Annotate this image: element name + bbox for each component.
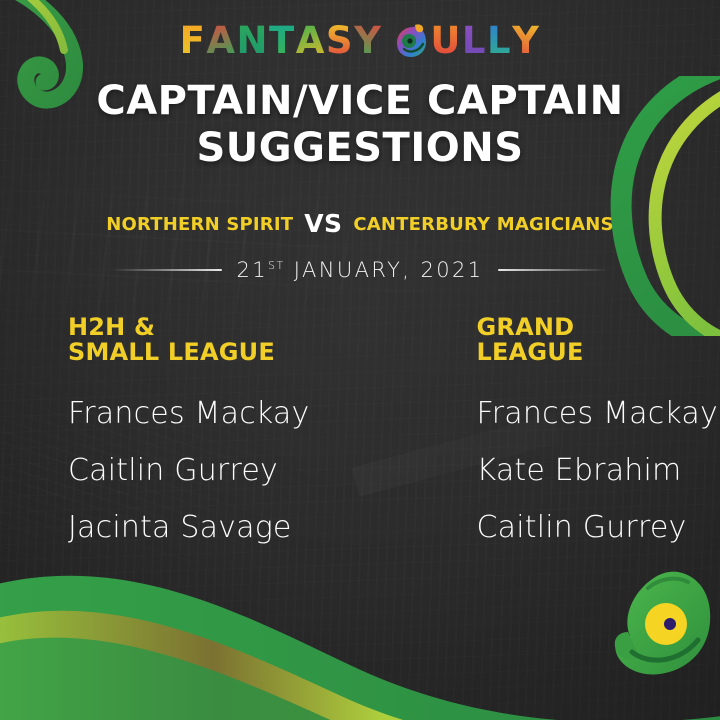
- date-divider-right: [498, 269, 608, 271]
- list-item[interactable]: Frances Mackay: [68, 385, 312, 442]
- team-away-name: CANTERBURY MAGICIANS: [353, 214, 613, 235]
- logo-letter-l1: L: [462, 22, 487, 59]
- team-home-name: NORTHERN SPIRIT: [106, 214, 293, 235]
- column-heading-h2h: H2H & SMALL LEAGUE: [68, 315, 312, 365]
- column-heading-grand-line1: GRAND: [477, 315, 720, 340]
- page-title-line2: SUGGESTIONS: [0, 125, 720, 172]
- date-divider-left: [112, 269, 222, 271]
- match-date: 21ST JANUARY, 2021: [236, 258, 483, 282]
- match-date-row: 21ST JANUARY, 2021: [0, 258, 720, 282]
- column-heading-h2h-line1: H2H &: [68, 315, 312, 340]
- logo-letter-n: N: [237, 22, 269, 59]
- logo-letter-s: S: [326, 22, 354, 59]
- player-list-h2h: Frances Mackay Caitlin Gurrey Jacinta Sa…: [68, 385, 312, 556]
- list-item[interactable]: Jacinta Savage: [68, 499, 312, 556]
- page-title-line1: CAPTAIN/VICE CAPTAIN: [96, 78, 623, 124]
- chameleon-g-icon: [395, 23, 429, 65]
- logo-letter-u: U: [430, 22, 462, 59]
- list-item[interactable]: Caitlin Gurrey: [477, 499, 720, 556]
- versus-label: VS: [304, 209, 342, 238]
- brand-logo[interactable]: FANTASY ULLY: [0, 22, 720, 65]
- player-list-grand: Frances Mackay Kate Ebrahim Caitlin Gurr…: [477, 385, 720, 556]
- logo-letter-t: T: [269, 22, 296, 59]
- column-heading-h2h-line2: SMALL LEAGUE: [68, 340, 312, 365]
- logo-letter-a2: A: [296, 22, 326, 59]
- date-day: 21: [236, 258, 268, 282]
- column-heading-grand: GRAND LEAGUE: [477, 315, 720, 365]
- list-item[interactable]: Kate Ebrahim: [477, 442, 720, 499]
- column-heading-grand-line2: LEAGUE: [477, 340, 720, 365]
- logo-letter-l2: L: [487, 22, 512, 59]
- poster-canvas: FANTASY ULLY CAPTAIN/VICE CAPTAIN SUGGES…: [0, 0, 720, 720]
- logo-letter-y2: Y: [512, 22, 540, 59]
- page-title: CAPTAIN/VICE CAPTAIN SUGGESTIONS: [0, 78, 720, 172]
- suggestion-columns: H2H & SMALL LEAGUE Frances Mackay Caitli…: [0, 315, 720, 556]
- list-item[interactable]: Frances Mackay: [477, 385, 720, 442]
- date-month-year: JANUARY, 2021: [294, 258, 484, 282]
- date-ordinal-suffix: ST: [268, 259, 285, 272]
- logo-letter-y1: Y: [354, 22, 382, 59]
- list-item[interactable]: Caitlin Gurrey: [68, 442, 312, 499]
- column-grand-league: GRAND LEAGUE Frances Mackay Kate Ebrahim…: [312, 315, 720, 556]
- matchup-line: NORTHERN SPIRITVSCANTERBURY MAGICIANS: [0, 209, 720, 238]
- logo-letter-f: F: [180, 22, 207, 59]
- column-h2h-small-league: H2H & SMALL LEAGUE Frances Mackay Caitli…: [0, 315, 312, 556]
- logo-letter-a1: A: [206, 22, 236, 59]
